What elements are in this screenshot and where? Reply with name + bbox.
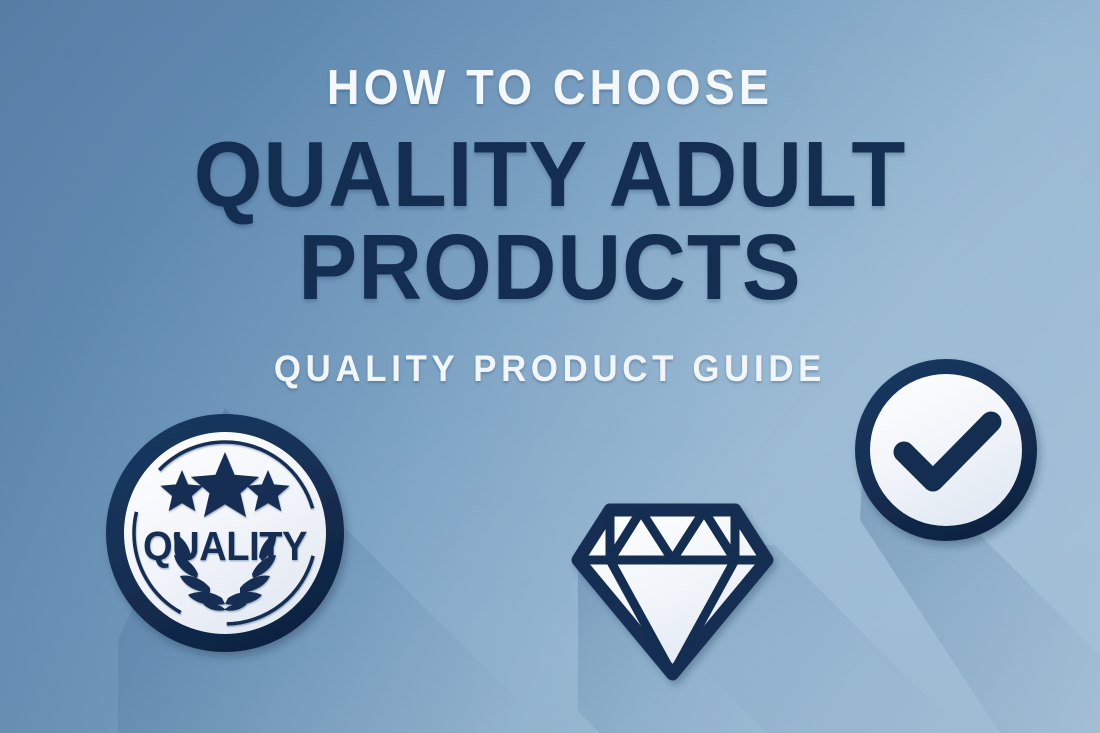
text-block: HOW TO CHOOSE QUALITY ADULT PRODUCTS QUA…	[0, 64, 1100, 390]
subtitle-text: QUALITY PRODUCT GUIDE	[33, 348, 1067, 390]
eyebrow-text: HOW TO CHOOSE	[44, 64, 1056, 113]
page-title: QUALITY ADULT PRODUCTS	[0, 131, 1100, 312]
banner-canvas: HOW TO CHOOSE QUALITY ADULT PRODUCTS QUA…	[0, 0, 1100, 733]
quality-seal-badge-icon: QUALITY	[100, 408, 350, 658]
badge-wordmark: QUALITY	[143, 524, 307, 570]
page-title-line-1: QUALITY ADULT	[28, 131, 1073, 218]
diamond-icon	[570, 498, 775, 683]
page-title-line-2: PRODUCTS	[28, 224, 1073, 311]
